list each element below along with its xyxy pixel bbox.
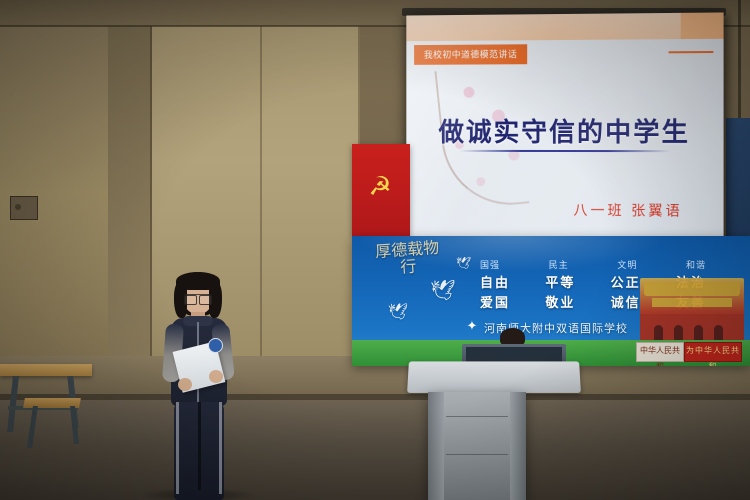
outlet-dot-icon — [15, 204, 21, 210]
photo-scene: 我校初中道德模范讲话 做诚实守信的中学生 八一班 张翼语 ☭ 厚德载物 行 🕊 … — [0, 0, 750, 500]
trouser-stripe — [176, 402, 179, 494]
floor-reflection — [0, 400, 750, 500]
core-value: 爱国 — [480, 292, 510, 311]
slide-top-bar-accent — [681, 12, 724, 39]
school-crest-icon: ✦ — [464, 318, 480, 334]
core-value-small: 民主 — [549, 258, 569, 271]
red-plaque-text: 为中华人民共和 — [685, 343, 741, 366]
slide-top-bar — [406, 12, 723, 41]
glasses-right-lens — [199, 295, 212, 305]
wall-outlet-box — [10, 196, 38, 220]
white-plaque-text: 中华人民共和 — [637, 343, 683, 366]
core-value: 平等 — [545, 272, 575, 291]
core-value: 公正 — [611, 272, 641, 291]
slide-presenter-line: 八一班 张翼语 — [573, 200, 682, 221]
hammer-sickle-icon: ☭ — [363, 170, 397, 202]
dove-icon: 🕊 — [456, 256, 471, 270]
lectern-panel-line — [446, 454, 508, 455]
tiananmen-arch — [674, 325, 683, 340]
glasses-icon — [184, 294, 212, 303]
wall-seam — [260, 24, 262, 364]
dove-icon: 🕊 — [388, 302, 408, 322]
wall-cable — [738, 0, 741, 120]
wooden-desk — [0, 364, 92, 376]
slide-main-title: 做诚实守信的中学生 — [406, 112, 723, 149]
core-value-small: 文明 — [617, 258, 637, 271]
tiananmen-roof-lower — [652, 298, 732, 307]
student-left-hand — [178, 378, 192, 391]
lectern-panel-line — [446, 416, 508, 417]
lectern-top-surface — [407, 361, 581, 393]
slide-title-underline — [459, 150, 671, 152]
student-speaker — [150, 272, 246, 500]
trouser-gap — [198, 402, 201, 490]
core-value: 诚信 — [611, 292, 641, 311]
left-wall-panel — [0, 24, 110, 364]
core-value-small: 和谐 — [686, 258, 706, 271]
core-value: 敬业 — [545, 292, 575, 311]
slide-rule — [669, 51, 714, 53]
glasses-left-lens — [184, 295, 197, 305]
red-plaque: 为中华人民共和 — [684, 342, 742, 362]
tiananmen-icon — [640, 278, 744, 340]
party-flag-panel: ☭ — [352, 144, 410, 236]
left-wall-panel-secondary — [108, 24, 152, 364]
dove-icon: 🕊 — [430, 278, 455, 303]
projector-screen: 我校初中道德模范讲话 做诚实守信的中学生 八一班 张翼语 — [406, 12, 723, 263]
trouser-stripe — [219, 402, 222, 494]
tiananmen-arch — [714, 325, 723, 340]
tiananmen-roof — [644, 282, 740, 296]
white-plaque: 中华人民共和 — [636, 342, 684, 362]
tiananmen-wall — [640, 314, 744, 340]
banner-core-values-small: 国强 民主 文明 和谐 — [480, 258, 706, 271]
student-right-hand — [209, 370, 223, 383]
tiananmen-arch — [654, 325, 663, 340]
uniform-badge — [208, 338, 223, 353]
lectern-left-edge — [428, 392, 444, 500]
lectern-right-edge — [510, 392, 526, 500]
core-value: 自由 — [480, 272, 510, 291]
core-value-small: 国强 — [480, 258, 500, 271]
student-trousers — [174, 402, 224, 500]
lectern — [428, 392, 526, 500]
tiananmen-arch — [694, 325, 703, 340]
